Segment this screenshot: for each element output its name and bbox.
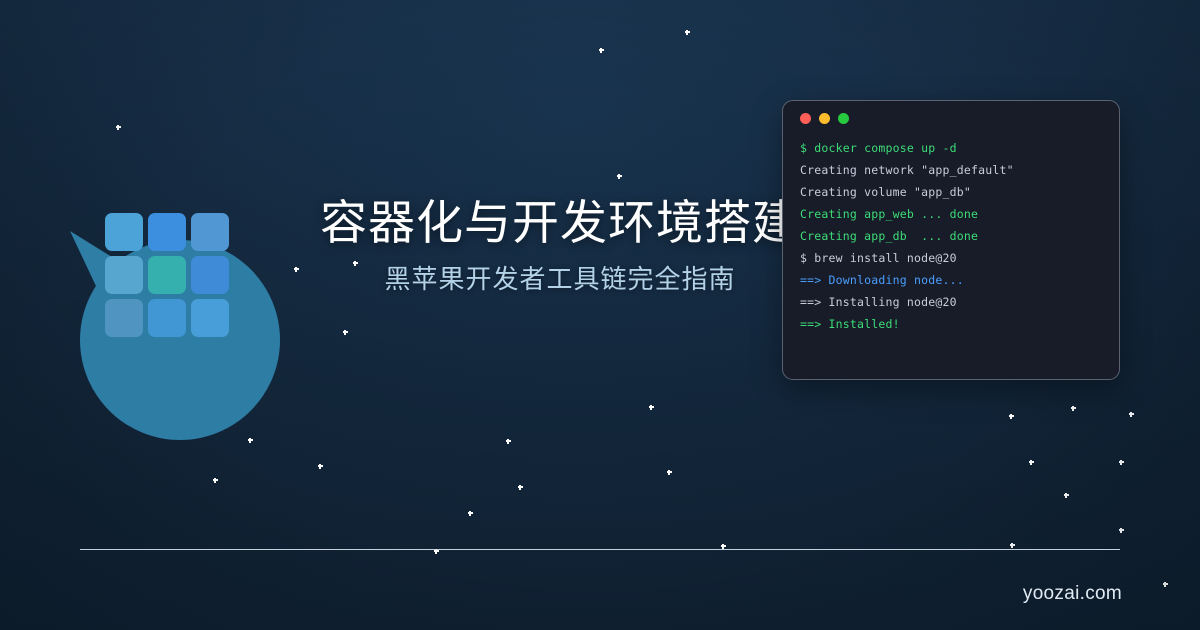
page-title: 容器化与开发环境搭建 [300, 196, 820, 250]
logo-tile [148, 256, 186, 294]
terminal-line: $ brew install node@20 [800, 247, 1107, 269]
close-icon[interactable] [800, 113, 811, 124]
maximize-icon[interactable] [838, 113, 849, 124]
terminal-line: Creating network "app_default" [800, 159, 1107, 181]
logo-tile [148, 213, 186, 251]
container-grid-logo-icon [70, 195, 300, 445]
minimize-icon[interactable] [819, 113, 830, 124]
page-subtitle: 黑苹果开发者工具链完全指南 [300, 264, 820, 295]
logo-tile [105, 256, 143, 294]
terminal-line: ==> Installed! [800, 313, 1107, 335]
logo-tile [191, 299, 229, 337]
logo-tile [191, 213, 229, 251]
footer-divider [80, 549, 1120, 550]
terminal-window[interactable]: $ docker compose up -dCreating network "… [782, 100, 1120, 380]
terminal-line: ==> Installing node@20 [800, 291, 1107, 313]
logo-tile [191, 256, 229, 294]
poster-canvas: 容器化与开发环境搭建 黑苹果开发者工具链完全指南 $ docker compos… [0, 0, 1200, 630]
logo-tile-grid [105, 213, 229, 337]
logo-tile [105, 299, 143, 337]
brand-logo [70, 195, 300, 445]
terminal-line: Creating volume "app_db" [800, 181, 1107, 203]
terminal-line: $ docker compose up -d [800, 137, 1107, 159]
logo-tile [148, 299, 186, 337]
terminal-line: Creating app_web ... done [800, 203, 1107, 225]
terminal-output: $ docker compose up -dCreating network "… [800, 137, 1107, 335]
terminal-line: ==> Downloading node... [800, 269, 1107, 291]
terminal-line: Creating app_db ... done [800, 225, 1107, 247]
logo-tile [105, 213, 143, 251]
footer-site-label: yoozai.com [1023, 583, 1122, 605]
headline-block: 容器化与开发环境搭建 黑苹果开发者工具链完全指南 [300, 196, 820, 295]
terminal-window-controls [800, 113, 849, 124]
